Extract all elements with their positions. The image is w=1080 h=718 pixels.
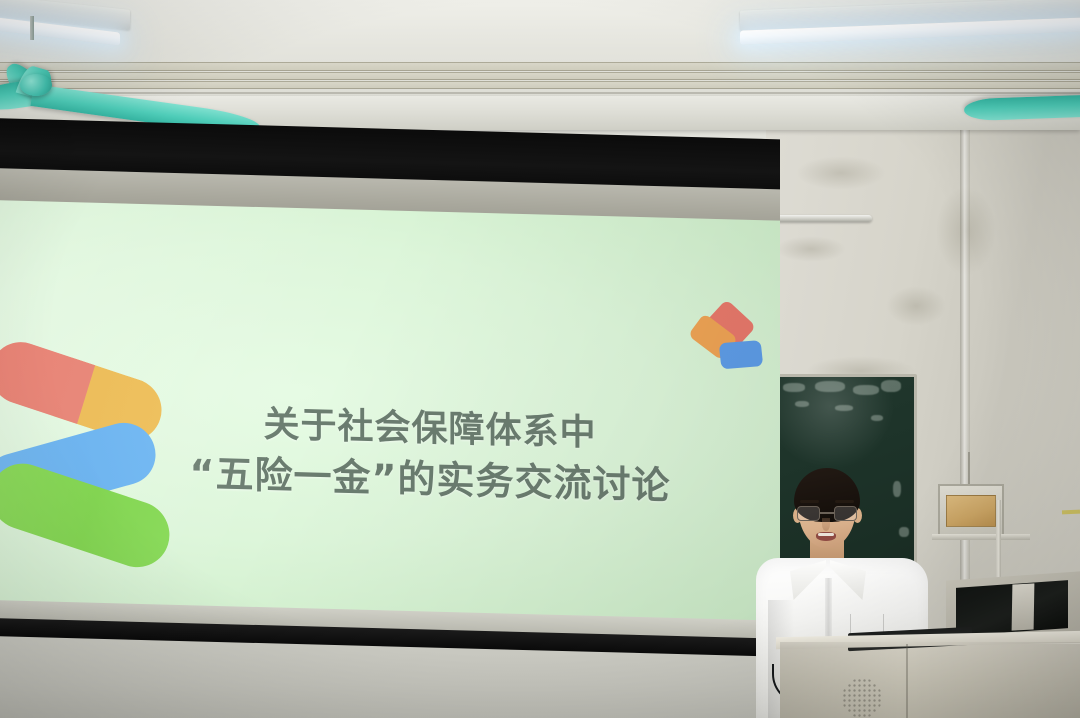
- panel-shelf: [932, 534, 1030, 540]
- fan-rod: [30, 16, 34, 40]
- wall-yellow-marking: [1062, 510, 1080, 515]
- podium-monitor-strip: [1012, 583, 1035, 630]
- ceiling-fan-right[interactable]: [870, 38, 1080, 138]
- wall-column-edge: [960, 96, 970, 656]
- mouth: [816, 532, 836, 541]
- lecture-hall-photo: 关于社会保障体系中 “五险一金”的实务交流讨论: [0, 0, 1080, 718]
- eyebrow-left: [800, 500, 819, 503]
- panel-cable: [968, 452, 970, 486]
- fan-blade: [964, 92, 1080, 121]
- electrical-panel-box: [938, 484, 1004, 536]
- eyebrow-right: [835, 500, 854, 503]
- podium-speaker-grille: [842, 678, 882, 718]
- fan-hub: [20, 74, 52, 96]
- decorative-blocks-top-right: [690, 304, 764, 376]
- podium-seam: [906, 644, 908, 718]
- ceiling-fan-left[interactable]: [6, 34, 286, 124]
- nose: [822, 518, 830, 531]
- slide: 关于社会保障体系中 “五险一金”的实务交流讨论: [0, 200, 780, 631]
- wall-rail: [776, 215, 872, 222]
- screen-surface: 关于社会保障体系中 “五险一金”的实务交流讨论: [0, 200, 780, 631]
- projection-screen: 关于社会保障体系中 “五险一金”的实务交流讨论: [0, 118, 780, 638]
- podium: [780, 642, 1080, 718]
- slide-title: 关于社会保障体系中 “五险一金”的实务交流讨论: [150, 398, 710, 513]
